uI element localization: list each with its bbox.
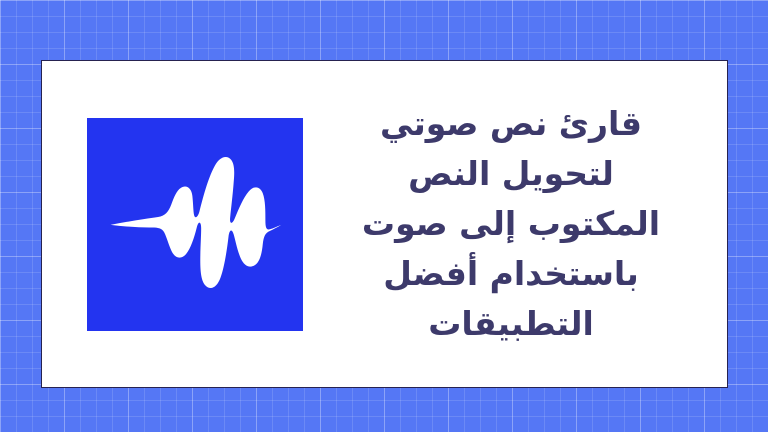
headline-panel: قارئ نص صوتيلتحويل النصالمكتوب إلى صوتبا… — [303, 99, 727, 349]
banner-stage: قارئ نص صوتيلتحويل النصالمكتوب إلى صوتبا… — [0, 0, 768, 432]
audio-waveform-icon — [107, 136, 283, 312]
headline-line-4: باستخدام أفضل — [383, 254, 638, 293]
content-card: قارئ نص صوتيلتحويل النصالمكتوب إلى صوتبا… — [41, 60, 728, 388]
app-logo-tile — [87, 118, 303, 331]
headline-line-5: التطبيقات — [428, 304, 594, 343]
headline-line-3: المكتوب إلى صوت — [362, 204, 660, 243]
page-title: قارئ نص صوتيلتحويل النصالمكتوب إلى صوتبا… — [362, 99, 660, 349]
headline-line-1: قارئ نص صوتي — [380, 104, 642, 143]
logo-panel — [87, 118, 303, 331]
headline-line-2: لتحويل النص — [408, 154, 614, 193]
